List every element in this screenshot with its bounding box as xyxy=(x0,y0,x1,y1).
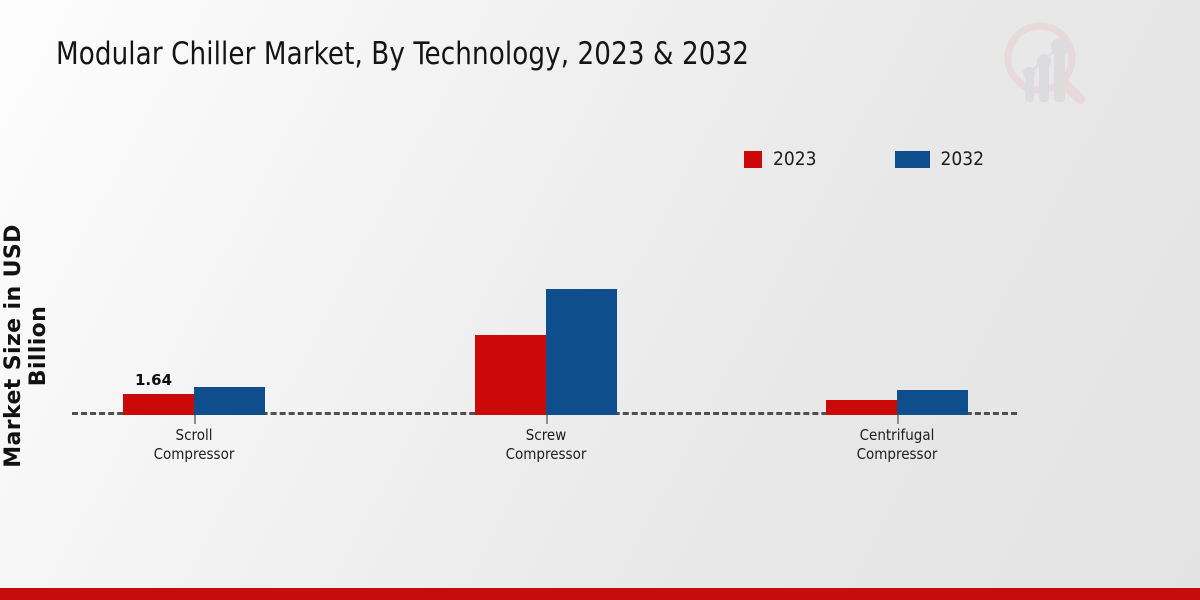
bar-2032-centrifugal-compressor[interactable] xyxy=(897,390,968,415)
magnifier-chart-icon xyxy=(996,16,1092,112)
category-label-line: Centrifugal xyxy=(782,426,1012,445)
legend-item-2023[interactable]: 2023 xyxy=(744,148,817,170)
axis-tick xyxy=(897,415,899,424)
brand-watermark-logo xyxy=(996,16,1092,112)
bar-2023-centrifugal-compressor[interactable] xyxy=(826,400,897,415)
plot-area: 1.64 ScrollCompressorScrewCompressorCent… xyxy=(72,170,1017,415)
legend-label-2032: 2032 xyxy=(941,148,985,170)
category-label-line: Compressor xyxy=(79,445,309,464)
axis-tick xyxy=(546,415,548,424)
red-swatch-icon xyxy=(744,151,762,168)
category-label-line: Compressor xyxy=(431,445,661,464)
bar-2023-screw-compressor[interactable] xyxy=(475,335,546,415)
category-label-line: Screw xyxy=(431,426,661,445)
category-label-line: Compressor xyxy=(782,445,1012,464)
category-label-line: Scroll xyxy=(79,426,309,445)
category-label-centrifugal-compressor: CentrifugalCompressor xyxy=(782,426,1012,464)
axis-tick xyxy=(194,415,196,424)
legend-label-2023: 2023 xyxy=(773,148,817,170)
y-axis-title: Market Size in USD Billion xyxy=(1,181,51,511)
legend-item-2032[interactable]: 2032 xyxy=(895,148,985,170)
category-label-scroll-compressor: ScrollCompressor xyxy=(79,426,309,464)
bar-value-label: 1.64 xyxy=(135,371,172,389)
bar-2032-screw-compressor[interactable] xyxy=(546,289,617,415)
category-label-screw-compressor: ScrewCompressor xyxy=(431,426,661,464)
infographic-canvas: Modular Chiller Market, By Technology, 2… xyxy=(0,0,1200,600)
chart-title: Modular Chiller Market, By Technology, 2… xyxy=(56,36,749,72)
blue-swatch-icon xyxy=(895,151,930,168)
chart-legend: 2023 2032 xyxy=(744,148,984,170)
bar-2032-scroll-compressor[interactable] xyxy=(194,387,265,415)
bar-2023-scroll-compressor[interactable] xyxy=(123,394,194,415)
footer-accent-bar xyxy=(0,588,1200,600)
